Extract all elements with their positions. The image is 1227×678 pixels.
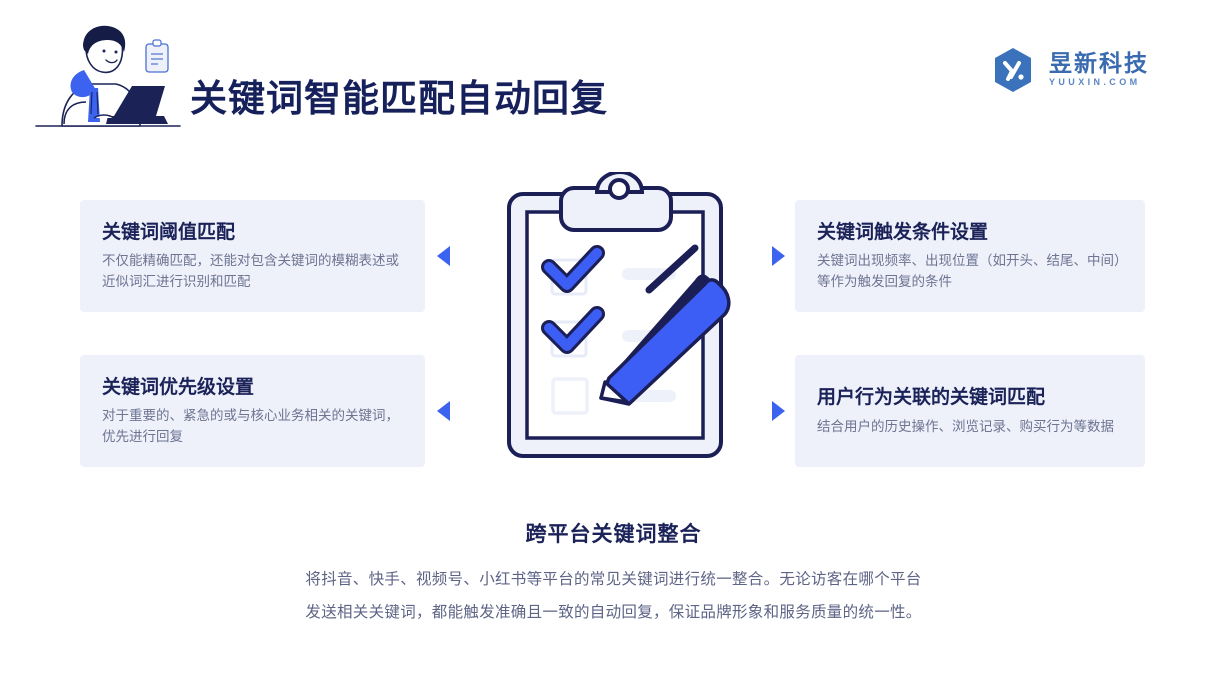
arrow-left-icon	[437, 401, 450, 421]
bottom-summary-block: 跨平台关键词整合 将抖音、快手、视频号、小红书等平台的常见关键词进行统一整合。无…	[0, 518, 1227, 629]
arrow-right-icon	[772, 401, 785, 421]
clipboard-checklist-with-pen-illustration	[489, 172, 751, 472]
arrow-left-icon	[437, 246, 450, 266]
feature-card-user-behavior-matching[interactable]: 用户行为关联的关键词匹配 结合用户的历史操作、浏览记录、购买行为等数据	[795, 355, 1145, 467]
card-description: 对于重要的、紧急的或与核心业务相关的关键词，优先进行回复	[102, 406, 403, 448]
feature-card-keyword-priority[interactable]: 关键词优先级设置 对于重要的、紧急的或与核心业务相关的关键词，优先进行回复	[80, 355, 425, 467]
card-description: 不仅能精确匹配，还能对包含关键词的模糊表述或近似词汇进行识别和匹配	[102, 251, 403, 293]
brand-text: 昱新科技 YUUXIN.COM	[1049, 51, 1149, 89]
feature-card-keyword-threshold[interactable]: 关键词阈值匹配 不仅能精确匹配，还能对包含关键词的模糊表述或近似词汇进行识别和匹…	[80, 200, 425, 312]
card-title: 关键词阈值匹配	[102, 221, 403, 246]
arrow-right-icon	[772, 246, 785, 266]
poster-canvas: 关键词智能匹配自动回复 昱新科技 YUUXIN.COM 关键词阈值匹配 不仅能精…	[0, 0, 1227, 678]
brand-name: 昱新科技	[1049, 51, 1149, 76]
bottom-line-1: 将抖音、快手、视频号、小红书等平台的常见关键词进行统一整合。无论访客在哪个平台	[0, 564, 1227, 597]
card-description: 关键词出现频率、出现位置（如开头、结尾、中间）等作为触发回复的条件	[817, 251, 1123, 293]
card-title: 用户行为关联的关键词匹配	[817, 386, 1123, 411]
card-title: 关键词触发条件设置	[817, 221, 1123, 246]
page-title: 关键词智能匹配自动回复	[190, 68, 608, 122]
person-at-laptop-illustration	[28, 18, 188, 138]
brand-domain: YUUXIN.COM	[1049, 77, 1149, 89]
bottom-line-2: 发送相关关键词，都能触发准确且一致的自动回复，保证品牌形象和服务质量的统一性。	[0, 597, 1227, 630]
bottom-title: 跨平台关键词整合	[0, 518, 1227, 548]
feature-card-trigger-conditions[interactable]: 关键词触发条件设置 关键词出现频率、出现位置（如开头、结尾、中间）等作为触发回复…	[795, 200, 1145, 312]
card-title: 关键词优先级设置	[102, 376, 403, 401]
hexagon-y-logo-icon	[989, 46, 1037, 94]
card-description: 结合用户的历史操作、浏览记录、购买行为等数据	[817, 417, 1123, 438]
brand-logo: 昱新科技 YUUXIN.COM	[989, 46, 1149, 94]
